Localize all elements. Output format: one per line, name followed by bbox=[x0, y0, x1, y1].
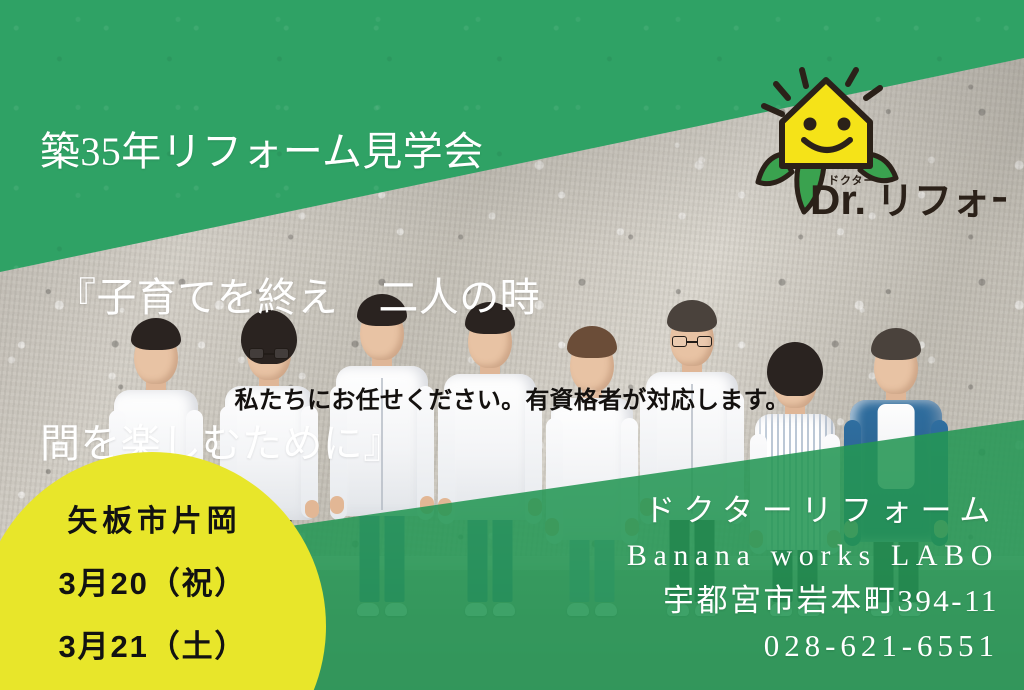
event-details: 矢板市片岡 3月20（祝） 3月21（土） bbox=[0, 452, 326, 666]
headline-line-1: 築35年リフォーム見学会 bbox=[0, 128, 540, 177]
svg-text:ドクター: ドクター bbox=[828, 174, 876, 187]
poster-canvas: 築35年リフォーム見学会 『子育てを終え 二人の時 間を楽しむために』 bbox=[0, 0, 1024, 690]
logo-eye-left bbox=[804, 118, 817, 131]
svg-text:リフォーム: リフォーム bbox=[876, 181, 1006, 223]
event-date-2: 3月21（土） bbox=[0, 621, 326, 666]
company-info: ドクターリフォーム Banana works LABO 宇都宮市岩本町394-1… bbox=[627, 488, 1002, 668]
headline-line-2: 『子育てを終え 二人の時 bbox=[0, 274, 540, 323]
glasses bbox=[672, 336, 712, 347]
company-name-kana: ドクターリフォーム bbox=[627, 488, 1002, 533]
company-address: 宇都宮市岩本町394-11 bbox=[627, 578, 1002, 623]
logo-eye-right bbox=[838, 118, 851, 131]
event-place: 矢板市片岡 bbox=[0, 452, 326, 540]
event-date-1: 3月20（祝） bbox=[0, 558, 326, 603]
hair bbox=[567, 326, 617, 358]
hair bbox=[871, 328, 921, 360]
company-phone: 028-621-6551 bbox=[627, 623, 1002, 668]
center-caption: 私たちにお任せください。有資格者が対応します。 bbox=[0, 380, 1024, 415]
dr-reform-logo: Dr. ドクター リフォーム bbox=[744, 62, 1006, 230]
company-name-latin: Banana works LABO bbox=[627, 534, 1002, 578]
logo-wordmark: Dr. ドクター リフォーム bbox=[810, 174, 1006, 223]
hair bbox=[667, 300, 717, 332]
